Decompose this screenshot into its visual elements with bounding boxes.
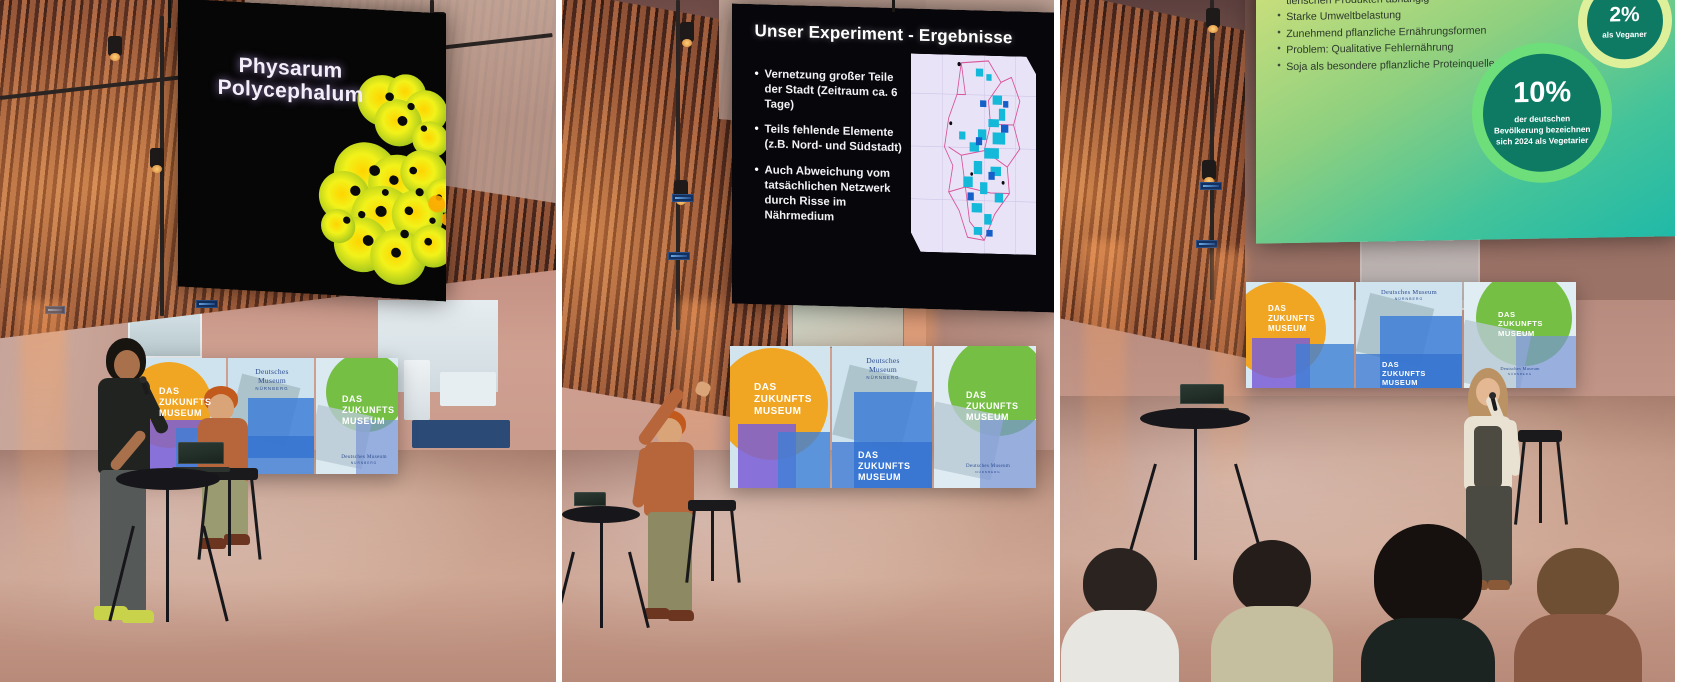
audience-member	[1512, 548, 1644, 682]
slide-nutrition: tierischen Produkten abhängig Starke Umw…	[1256, 0, 1675, 244]
logo-line-2: NÜRNBERG	[1380, 297, 1438, 301]
table-leg	[166, 482, 169, 622]
legs	[648, 512, 692, 614]
deutsches-museum-logo: Deutsches Museum NÜRNBERG	[852, 356, 914, 380]
table-leg	[562, 552, 575, 628]
slide-bullet-list: Vernetzung großer Teile der Stadt (Zeitr…	[755, 67, 910, 238]
laptop-screen	[178, 442, 224, 464]
stat-value: 10%	[1513, 78, 1571, 108]
stool-leg	[711, 509, 714, 581]
exhibit-panel	[404, 360, 430, 420]
audience-head	[1233, 540, 1311, 614]
screen-rigging	[892, 0, 895, 12]
slide-bullet-list: tierischen Produkten abhängig Starke Umw…	[1277, 0, 1497, 75]
logo-line-2: NÜRNBERG	[244, 386, 300, 391]
museum-banner-wall: DAS ZUKUNFTS MUSEUM Deutsches Museum NÜR…	[1246, 282, 1576, 388]
collage-panel-2: DAS ZUKUNFTS MUSEUM Deutsches Museum NÜR…	[562, 0, 1054, 682]
deutsches-museum-logo: Deutsches Museum NÜRNBERG	[962, 464, 1014, 474]
wall-sign	[196, 300, 218, 308]
led-screen-2: Unser Experiment - Ergebnisse Vernetzung…	[732, 4, 1054, 313]
stat-caption: der deutschen Bevölkerung bezeichnen sic…	[1491, 114, 1592, 148]
museum-banner-wall: DAS ZUKUNFTS MUSEUM Deutsches Museum NÜR…	[730, 346, 1036, 488]
banner-text-lower: DAS ZUKUNFTS MUSEUM	[858, 450, 911, 483]
banner-shape-square	[1296, 344, 1354, 388]
torso	[644, 442, 694, 516]
banner-text: DAS ZUKUNFTS MUSEUM	[159, 386, 212, 419]
waistcoat	[1474, 426, 1502, 488]
wall-sign	[1196, 240, 1218, 248]
banner-panel-green: DAS ZUKUNFTS MUSEUM Deutsches Museum NÜR…	[316, 358, 398, 474]
map-svg	[911, 53, 1037, 255]
stage-spotlight-icon	[1202, 160, 1216, 180]
led-screen-3: tierischen Produkten abhängig Starke Umw…	[1256, 0, 1675, 244]
audience-shoulders	[1514, 614, 1642, 682]
audience-head	[1537, 548, 1619, 622]
presenter-table	[562, 506, 640, 628]
stool	[688, 500, 736, 584]
wall-sign	[668, 252, 690, 260]
exhibit-display	[440, 372, 496, 406]
banner-text: DAS ZUKUNFTS MUSEUM	[754, 382, 812, 419]
banner-panel-green: DAS ZUKUNFTS MUSEUM Deutsches Museum NÜR…	[934, 346, 1036, 488]
deutsches-museum-logo: Deutsches Museum NÜRNBERG	[1380, 289, 1438, 301]
banner-panel-logo: Deutsches Museum NÜRNBERG DAS ZUKUNFTS M…	[832, 346, 932, 488]
banner-text: DAS ZUKUNFTS MUSEUM	[1498, 310, 1543, 338]
deutsches-museum-logo: Deutsches Museum NÜRNBERG	[338, 454, 390, 465]
logo-line-2: NÜRNBERG	[962, 470, 1014, 474]
banner-text: DAS ZUKUNFTS MUSEUM	[342, 394, 395, 427]
logo-line-1: Deutsches Museum	[338, 454, 390, 460]
deutsches-museum-logo: Deutsches Museum NÜRNBERG	[1496, 366, 1544, 376]
presenter-table	[1140, 408, 1250, 560]
stage-spotlight-icon	[150, 148, 164, 168]
stool	[1518, 430, 1562, 526]
logo-line-2: NÜRNBERG	[1496, 372, 1544, 376]
banner-shape-square	[356, 420, 398, 474]
logo-line-1: Deutsches Museum	[962, 464, 1014, 469]
slide-bullet: Auch Abweichung vom tatsächlichen Netzwe…	[755, 163, 910, 227]
audience-member	[1210, 540, 1334, 682]
table-leg	[1194, 422, 1197, 560]
venue-room-3: DAS ZUKUNFTS MUSEUM Deutsches Museum NÜR…	[1060, 0, 1675, 682]
stat-circle-vegan: 2% als Veganer	[1578, 0, 1672, 69]
logo-line-1: Deutsches Museum	[244, 367, 300, 385]
stat-caption: als Veganer	[1602, 30, 1646, 40]
slide-title: Unser Experiment - Ergebnisse	[755, 21, 1035, 49]
stat-circle-vegetarian: 10% der deutschen Bevölkerung bezeichnen…	[1472, 42, 1612, 184]
light-beam	[1084, 240, 1126, 540]
collage-panel-1: DAS ZUKUNFTS MUSEUM Deutsches Museum NÜR…	[0, 0, 556, 682]
exhibit-bench	[412, 420, 510, 448]
stool-leg	[228, 478, 231, 556]
shoe	[668, 610, 694, 621]
venue-room-2: DAS ZUKUNFTS MUSEUM Deutsches Museum NÜR…	[562, 0, 1054, 682]
stool-leg	[1539, 439, 1542, 523]
banner-shape-square	[778, 432, 830, 488]
slide-physarum: Physarum Polycephalum	[178, 0, 446, 301]
audience-member	[1360, 524, 1496, 682]
logo-line-1: Deutsches Museum	[1496, 366, 1544, 371]
laptop-screen	[1180, 384, 1224, 404]
banner-text-lower: DAS ZUKUNFTS MUSEUM	[1382, 360, 1426, 387]
stage-spotlight-icon	[108, 36, 122, 56]
screen-rigging	[168, 0, 171, 28]
banner-panel-orange: DAS ZUKUNFTS MUSEUM	[1246, 282, 1354, 388]
led-screen-1: Physarum Polycephalum	[178, 0, 446, 301]
stat-value: 2%	[1609, 4, 1639, 26]
slide-bullet: Teils fehlende Elemente (z.B. Nord- und …	[755, 123, 910, 157]
slide-bullet: Vernetzung großer Teile der Stadt (Zeitr…	[755, 67, 910, 116]
banner-panel-orange: DAS ZUKUNFTS MUSEUM	[730, 346, 830, 488]
stage-spotlight-icon	[1206, 8, 1220, 28]
slide-bullet: Soja als besondere pflanzliche Proteinqu…	[1277, 55, 1497, 75]
wall-sign	[672, 194, 694, 202]
shoe	[644, 608, 670, 619]
banner-text: DAS ZUKUNFTS MUSEUM	[966, 390, 1019, 423]
rig-pole-vertical	[676, 0, 680, 330]
audience-shoulders	[1361, 618, 1495, 682]
banner-shape-square	[980, 420, 1036, 488]
floor-reflection	[0, 450, 556, 682]
deutsches-museum-logo: Deutsches Museum NÜRNBERG	[244, 367, 300, 391]
logo-line-1: Deutsches Museum	[1380, 289, 1438, 296]
banner-text: DAS ZUKUNFTS MUSEUM	[1268, 304, 1315, 333]
logo-line-2: NÜRNBERG	[852, 375, 914, 380]
photo-collage: DAS ZUKUNFTS MUSEUM Deutsches Museum NÜR…	[0, 0, 1681, 682]
slide-title: Physarum Polycephalum	[216, 52, 366, 107]
audience-head	[1083, 548, 1157, 618]
stage-spotlight-icon	[680, 22, 694, 42]
head	[114, 350, 140, 380]
audience-head-curly	[1374, 524, 1482, 628]
light-beam	[20, 300, 66, 600]
laptop-screen	[574, 492, 606, 506]
audience-member	[1060, 548, 1180, 682]
logo-line-2: NÜRNBERG	[338, 461, 390, 465]
slide-experiment-results: Unser Experiment - Ergebnisse Vernetzung…	[732, 4, 1054, 313]
logo-line-1: Deutsches Museum	[852, 356, 914, 374]
banner-panel-logo: Deutsches Museum NÜRNBERG DAS ZUKUNFTS M…	[1356, 282, 1462, 388]
collage-panel-3: DAS ZUKUNFTS MUSEUM Deutsches Museum NÜR…	[1060, 0, 1675, 682]
audience-shoulders	[1211, 606, 1333, 682]
venue-room-1: DAS ZUKUNFTS MUSEUM Deutsches Museum NÜR…	[0, 0, 556, 682]
table-leg	[600, 518, 603, 628]
city-map-graphic	[911, 53, 1037, 255]
presenter-table	[116, 468, 220, 624]
wall-sign	[1200, 182, 1222, 190]
audience-shoulders	[1061, 610, 1179, 682]
